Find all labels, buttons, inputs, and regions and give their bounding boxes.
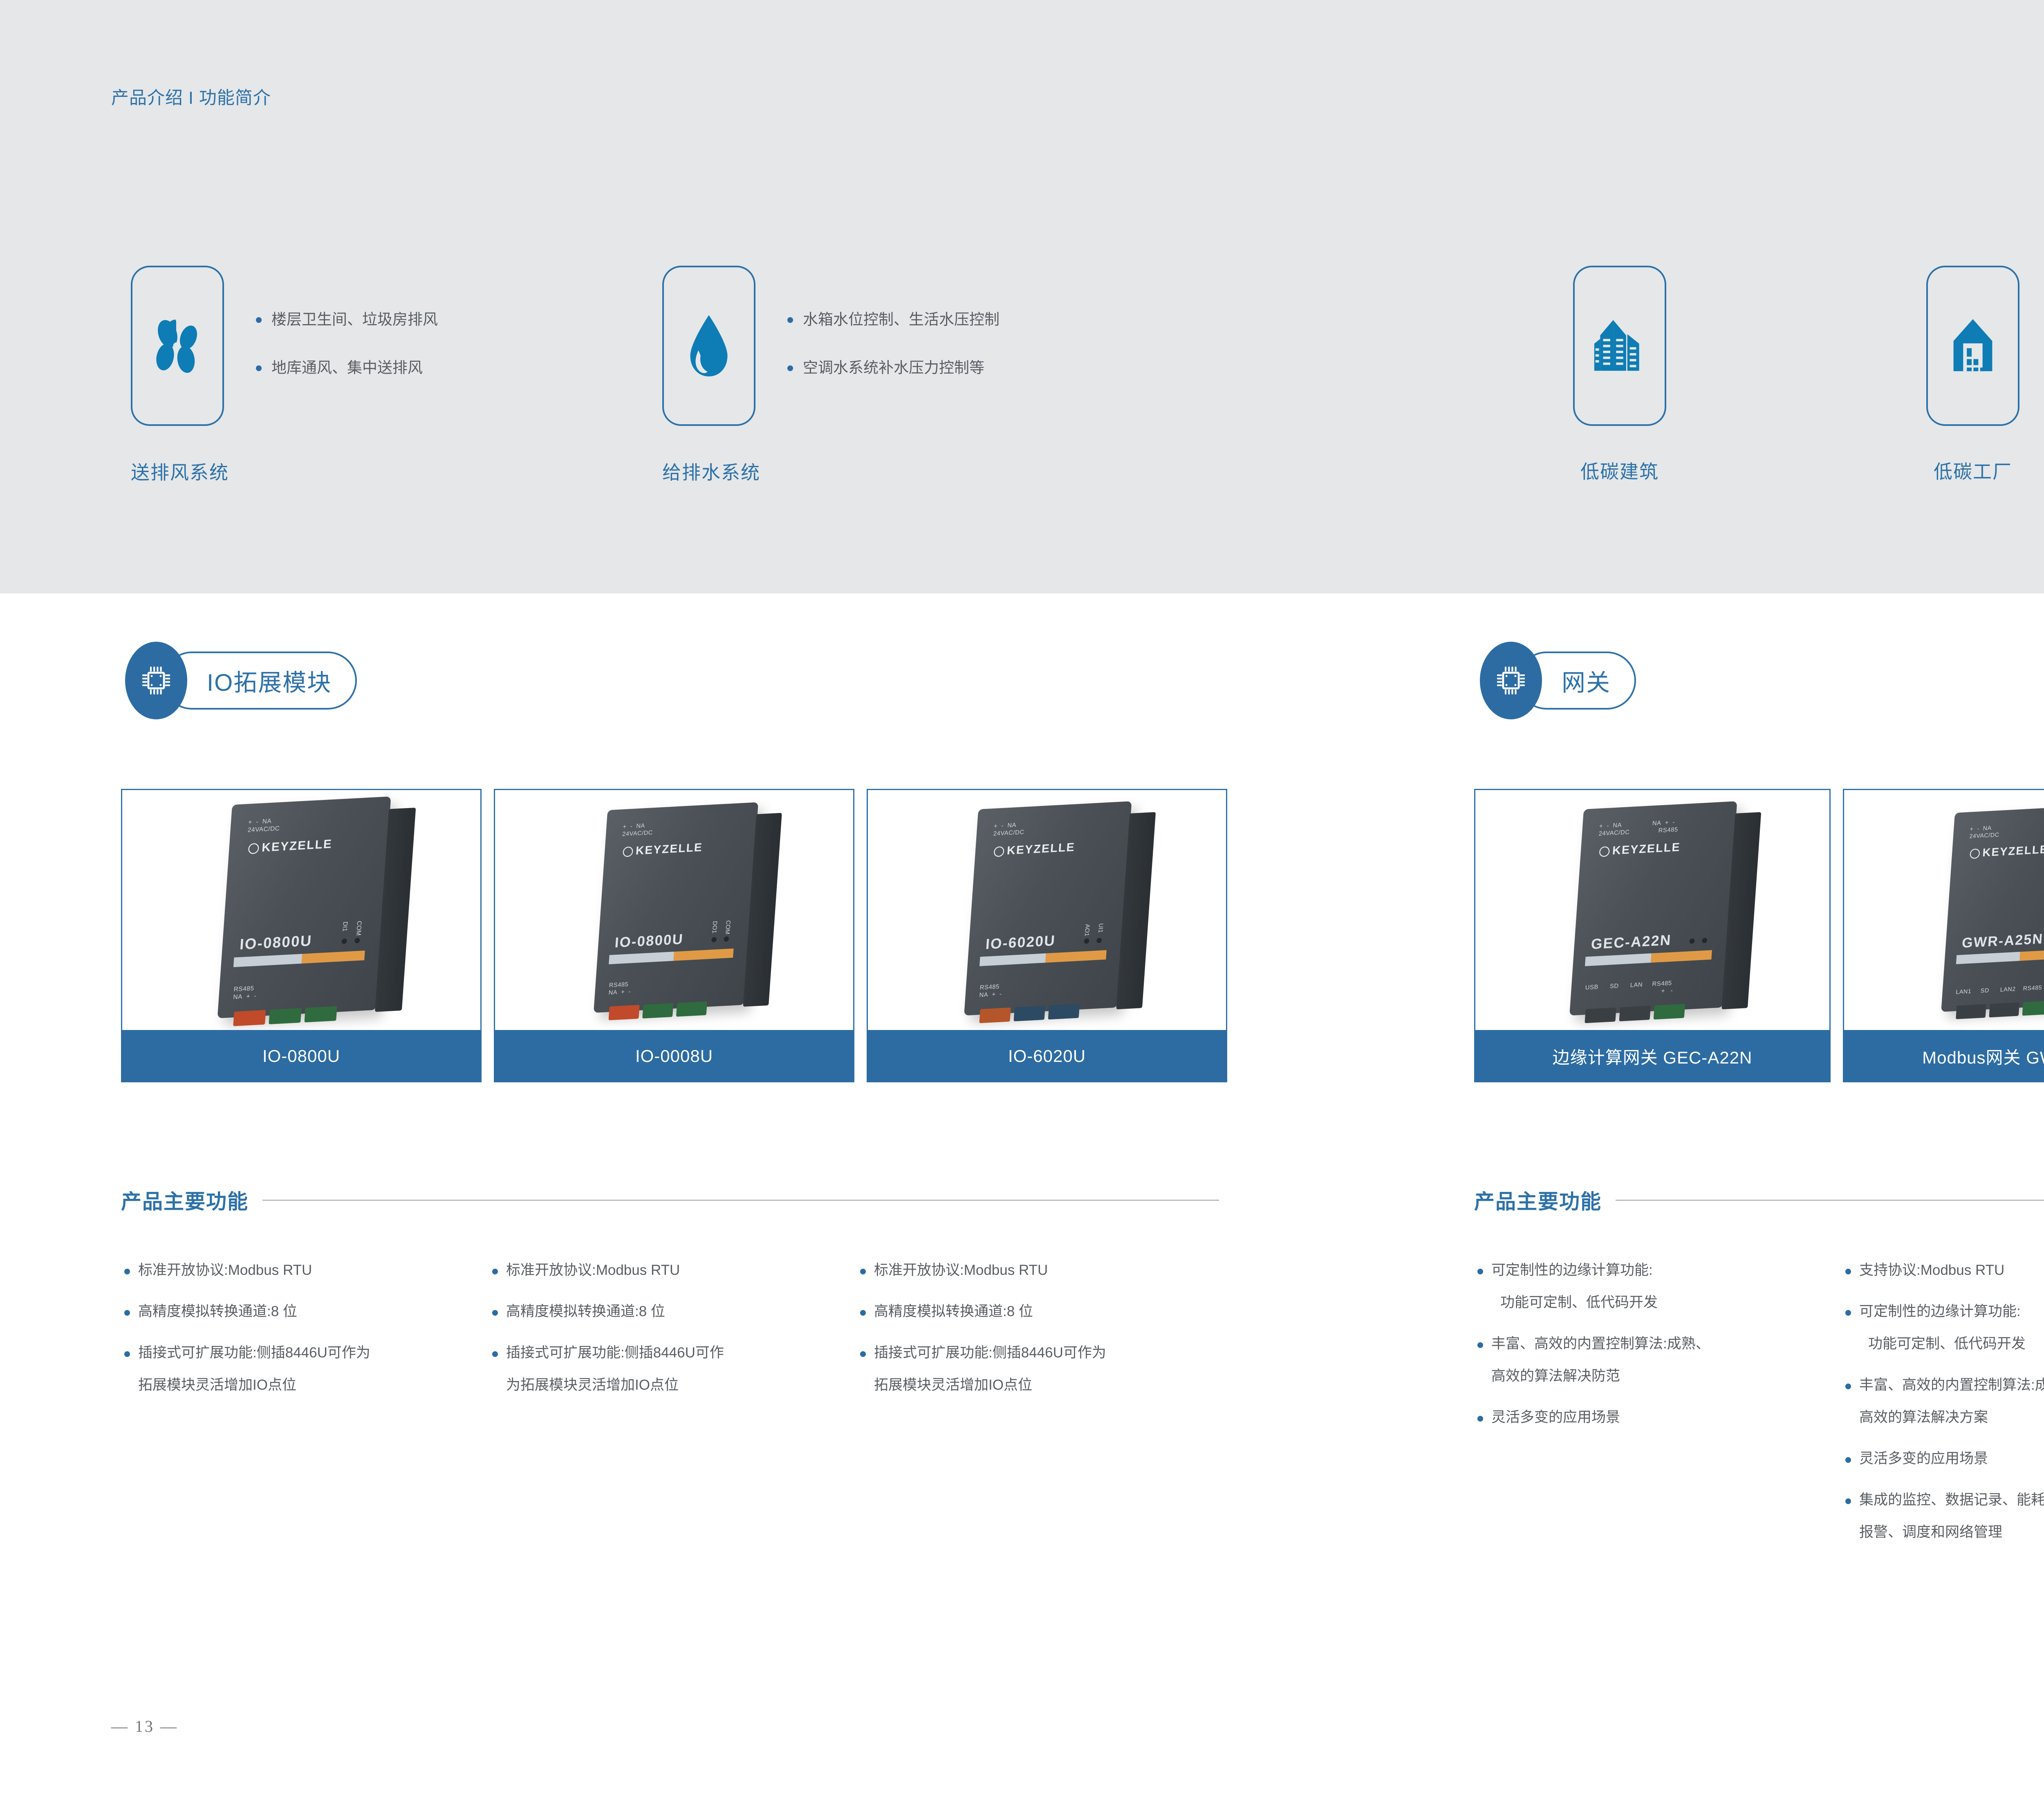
device-port-labels: DI1COM bbox=[341, 920, 363, 936]
heading-rule bbox=[1616, 1200, 2044, 1201]
features-title: 产品主要功能 bbox=[121, 1185, 249, 1215]
scenario-bullet-list: 楼层卫生间、垃圾房排风 地库通风、集中送排风 bbox=[253, 311, 621, 408]
features-column: 标准开放协议:Modbus RTU 高精度模拟转换通道:8 位 插接式可扩展功能… bbox=[121, 1263, 489, 1419]
chip-icon-circle bbox=[125, 642, 187, 719]
features-heading: 产品主要功能 bbox=[121, 1185, 1219, 1215]
factory-icon-frame bbox=[1926, 266, 2019, 426]
device-bottom-labels: RS485NA + - bbox=[608, 980, 632, 996]
device-illustration: + - NA24VAC/DC KEYZELLE DI1COM IO-0800U … bbox=[224, 801, 383, 1013]
device-brand: KEYZELLE bbox=[993, 840, 1076, 858]
keyzelle-logo-mark bbox=[1599, 846, 1610, 857]
keyzelle-logo-mark bbox=[623, 846, 633, 857]
office-building-icon-frame bbox=[1573, 266, 1666, 426]
feature-item: 插接式可扩展功能:侧插8446U可作为拓展模块灵活增加IO点位 bbox=[121, 1346, 489, 1392]
top-gray-band bbox=[0, 0, 2044, 593]
feature-item: 支持协议:Modbus RTU bbox=[1842, 1263, 2044, 1277]
terminal-connectors bbox=[979, 1004, 1080, 1023]
feature-item: 高精度模拟转换通道:8 位 bbox=[857, 1304, 1219, 1319]
device-model: GWR-A25N bbox=[1961, 931, 2044, 951]
device-status-leds bbox=[341, 938, 360, 944]
feature-item: 标准开放协议:Modbus RTU bbox=[121, 1263, 489, 1277]
chip-icon bbox=[139, 664, 173, 697]
product-label: Modbus网关 GWR-A25N bbox=[1843, 1030, 2044, 1082]
product-card[interactable]: + - NA NA + -24VAC/DC RS485 KEYZELLE GEC… bbox=[1474, 789, 1831, 1082]
device-status-leds bbox=[1689, 938, 1707, 944]
feature-item: 集成的监控、数据记录、能耗计量、报警、调度和网络管理 bbox=[1842, 1493, 2044, 1539]
features-columns: 可定制性的边缘计算功能:功能可定制、低代码开发 丰富、高效的内置控制算法:成熟、… bbox=[1474, 1263, 2044, 1566]
feature-item: 插接式可扩展功能:侧插8446U可作为拓展模块灵活增加IO点位 bbox=[489, 1346, 857, 1392]
product-card[interactable]: + - NA24VAC/DC KEYZELLE GWR-A25N LAN1 SD… bbox=[1843, 789, 2044, 1082]
features-title: 产品主要功能 bbox=[1474, 1185, 1602, 1215]
product-card[interactable]: + - NA24VAC/DC KEYZELLE DI1COM IO-0800U … bbox=[121, 789, 482, 1082]
features-column: 可定制性的边缘计算功能:功能可定制、低代码开发 丰富、高效的内置控制算法:成熟、… bbox=[1474, 1263, 1842, 1566]
section-badge-io-modules[interactable]: IO拓展模块 bbox=[125, 642, 357, 719]
feature-item: 可定制性的边缘计算功能:功能可定制、低代码开发 bbox=[1842, 1304, 2044, 1351]
device-brand: KEYZELLE bbox=[248, 837, 333, 855]
device-port-labels: AO1UI1 bbox=[1083, 923, 1105, 936]
device-bottom-labels: USB SD LAN RS485 + - bbox=[1585, 979, 1674, 999]
running-header-left: 产品介绍 I 功能简介 bbox=[111, 84, 271, 109]
scenario-bullet: 地库通风、集中送排风 bbox=[253, 359, 621, 377]
device-top-labels: + - NA24VAC/DC bbox=[247, 817, 280, 834]
feature-item: 标准开放协议:Modbus RTU bbox=[857, 1263, 1219, 1277]
terminal-connectors bbox=[1956, 1000, 2044, 1019]
terminal-connectors bbox=[609, 1001, 707, 1020]
feature-item: 标准开放协议:Modbus RTU bbox=[489, 1263, 857, 1277]
scenario-bullet: 空调水系统补水压力控制等 bbox=[785, 359, 1153, 377]
device-top-labels: + - NA24VAC/DC bbox=[993, 821, 1025, 837]
office-building-icon bbox=[1593, 316, 1646, 376]
features-column: 标准开放协议:Modbus RTU 高精度模拟转换通道:8 位 插接式可扩展功能… bbox=[857, 1263, 1219, 1419]
device-stripe bbox=[609, 948, 733, 964]
product-image: + - NA24VAC/DC KEYZELLE DI1COM IO-0800U … bbox=[121, 789, 482, 1030]
features-io: 产品主要功能 标准开放协议:Modbus RTU 高精度模拟转换通道:8 位 插… bbox=[121, 1185, 1219, 1419]
device-top-labels: + - NA24VAC/DC bbox=[622, 821, 654, 838]
tile-low-carbon-building: 低碳建筑 bbox=[1573, 266, 1666, 484]
chip-icon bbox=[1494, 664, 1528, 697]
heading-rule bbox=[262, 1200, 1219, 1201]
product-cards-io: + - NA24VAC/DC KEYZELLE DI1COM IO-0800U … bbox=[121, 789, 1227, 1082]
device-top-labels: + - NA NA + -24VAC/DC RS485 bbox=[1598, 818, 1679, 838]
terminal-connectors bbox=[233, 1006, 337, 1026]
product-cards-gateways: + - NA NA + -24VAC/DC RS485 KEYZELLE GEC… bbox=[1474, 789, 2044, 1082]
product-card[interactable]: + - NA24VAC/DC KEYZELLE DO1COM IO-0800U … bbox=[494, 789, 854, 1082]
terminal-connectors bbox=[1585, 1004, 1685, 1023]
catalog-spread: 产品介绍 I 功能简介 产品介绍 I 功能简介 送排风系统 楼层卫生间、垃圾房排… bbox=[0, 0, 2044, 1798]
product-image: + - NA24VAC/DC KEYZELLE DO1COM IO-0800U … bbox=[494, 789, 854, 1030]
device-bottom-labels: LAN1 SD LAN2 RS485 bbox=[1956, 984, 2042, 996]
feature-item: 丰富、高效的内置控制算法:成熟、高效的算法解决防范 bbox=[1474, 1337, 1842, 1383]
scenario-caption: 送排风系统 bbox=[131, 458, 229, 485]
feature-item: 高精度模拟转换通道:8 位 bbox=[489, 1304, 857, 1319]
device-model: IO-0800U bbox=[614, 931, 684, 951]
section-badge-gateways[interactable]: 网关 bbox=[1480, 642, 1636, 719]
device-top-labels: + - NA24VAC/DC bbox=[1969, 824, 2000, 840]
scenario-ventilation: 送排风系统 楼层卫生间、垃圾房排风 地库通风、集中送排风 bbox=[131, 266, 229, 485]
product-label: IO-0008U bbox=[494, 1030, 854, 1082]
device-brand: KEYZELLE bbox=[1599, 840, 1681, 858]
device-illustration: + - NA24VAC/DC KEYZELLE GWR-A25N LAN1 SD… bbox=[1948, 809, 2044, 1007]
product-label: 边缘计算网关 GEC-A22N bbox=[1474, 1030, 1831, 1082]
scenario-bullet: 水箱水位控制、生活水压控制 bbox=[785, 311, 1153, 329]
product-card[interactable]: + - NA24VAC/DC KEYZELLE AO1UI1 IO-6020U … bbox=[867, 789, 1227, 1082]
scenario-bullet: 楼层卫生间、垃圾房排风 bbox=[253, 311, 621, 329]
scenario-bullet-list: 水箱水位控制、生活水压控制 空调水系统补水压力控制等 bbox=[785, 311, 1153, 408]
feature-item: 可定制性的边缘计算功能:功能可定制、低代码开发 bbox=[1474, 1263, 1842, 1310]
page-number-left: — 13 — bbox=[111, 1717, 178, 1736]
device-illustration: + - NA NA + -24VAC/DC RS485 KEYZELLE GEC… bbox=[1576, 806, 1730, 1011]
device-stripe bbox=[979, 950, 1107, 966]
features-gateways: 产品主要功能 可定制性的边缘计算功能:功能可定制、低代码开发 丰富、高效的内置控… bbox=[1474, 1185, 2044, 1566]
factory-icon bbox=[1948, 316, 1997, 376]
keyzelle-logo-mark bbox=[1970, 848, 1980, 859]
tile-caption: 低碳工厂 bbox=[1926, 457, 2019, 484]
keyzelle-logo-mark bbox=[248, 842, 260, 853]
fan-icon-frame bbox=[131, 266, 224, 426]
product-label: IO-0800U bbox=[121, 1030, 482, 1082]
feature-item: 灵活多变的应用场景 bbox=[1842, 1451, 2044, 1466]
device-port-labels: DO1COM bbox=[711, 920, 732, 935]
device-illustration: + - NA24VAC/DC KEYZELLE DO1COM IO-0800U … bbox=[601, 806, 752, 1008]
water-drop-icon-frame bbox=[662, 266, 755, 426]
tile-caption: 低碳建筑 bbox=[1573, 457, 1666, 484]
features-columns: 标准开放协议:Modbus RTU 高精度模拟转换通道:8 位 插接式可扩展功能… bbox=[121, 1263, 1219, 1419]
device-model: IO-0800U bbox=[239, 932, 313, 953]
device-status-leds bbox=[711, 936, 729, 942]
device-model: GEC-A22N bbox=[1591, 931, 1672, 953]
product-image: + - NA NA + -24VAC/DC RS485 KEYZELLE GEC… bbox=[1474, 789, 1831, 1030]
feature-item: 灵活多变的应用场景 bbox=[1474, 1410, 1842, 1424]
device-bottom-labels: RS485NA + - bbox=[233, 984, 258, 1001]
product-image: + - NA24VAC/DC KEYZELLE AO1UI1 IO-6020U … bbox=[867, 789, 1227, 1030]
feature-item: 插接式可扩展功能:侧插8446U可作为拓展模块灵活增加IO点位 bbox=[857, 1346, 1219, 1392]
features-heading: 产品主要功能 bbox=[1474, 1185, 2044, 1215]
fan-icon bbox=[147, 314, 208, 378]
device-stripe bbox=[233, 950, 365, 967]
device-brand: KEYZELLE bbox=[623, 841, 703, 858]
keyzelle-logo-mark bbox=[993, 846, 1004, 857]
device-stripe bbox=[1585, 950, 1712, 966]
section-badge-label: IO拓展模块 bbox=[163, 652, 357, 710]
chip-icon-circle bbox=[1480, 642, 1542, 719]
tile-low-carbon-factory: 低碳工厂 bbox=[1926, 266, 2019, 484]
device-brand: KEYZELLE bbox=[1970, 843, 2044, 860]
feature-item: 高精度模拟转换通道:8 位 bbox=[121, 1304, 489, 1319]
water-drop-icon bbox=[683, 313, 735, 378]
features-column: 标准开放协议:Modbus RTU 高精度模拟转换通道:8 位 插接式可扩展功能… bbox=[489, 1263, 857, 1419]
product-label: IO-6020U bbox=[867, 1030, 1227, 1082]
feature-item: 丰富、高效的内置控制算法:成熟、高效的算法解决方案 bbox=[1842, 1378, 2044, 1424]
device-bottom-labels: RS485NA + - bbox=[979, 982, 1003, 999]
device-status-leds bbox=[1084, 938, 1102, 944]
scenario-water-supply: 给排水系统 水箱水位控制、生活水压控制 空调水系统补水压力控制等 bbox=[662, 266, 760, 485]
scenario-caption: 给排水系统 bbox=[662, 458, 760, 485]
device-illustration: + - NA24VAC/DC KEYZELLE AO1UI1 IO-6020U … bbox=[971, 806, 1125, 1011]
device-model: IO-6020U bbox=[985, 932, 1056, 952]
features-column: 支持协议:Modbus RTU 可定制性的边缘计算功能:功能可定制、低代码开发 … bbox=[1842, 1263, 2044, 1566]
product-image: + - NA24VAC/DC KEYZELLE GWR-A25N LAN1 SD… bbox=[1843, 789, 2044, 1030]
